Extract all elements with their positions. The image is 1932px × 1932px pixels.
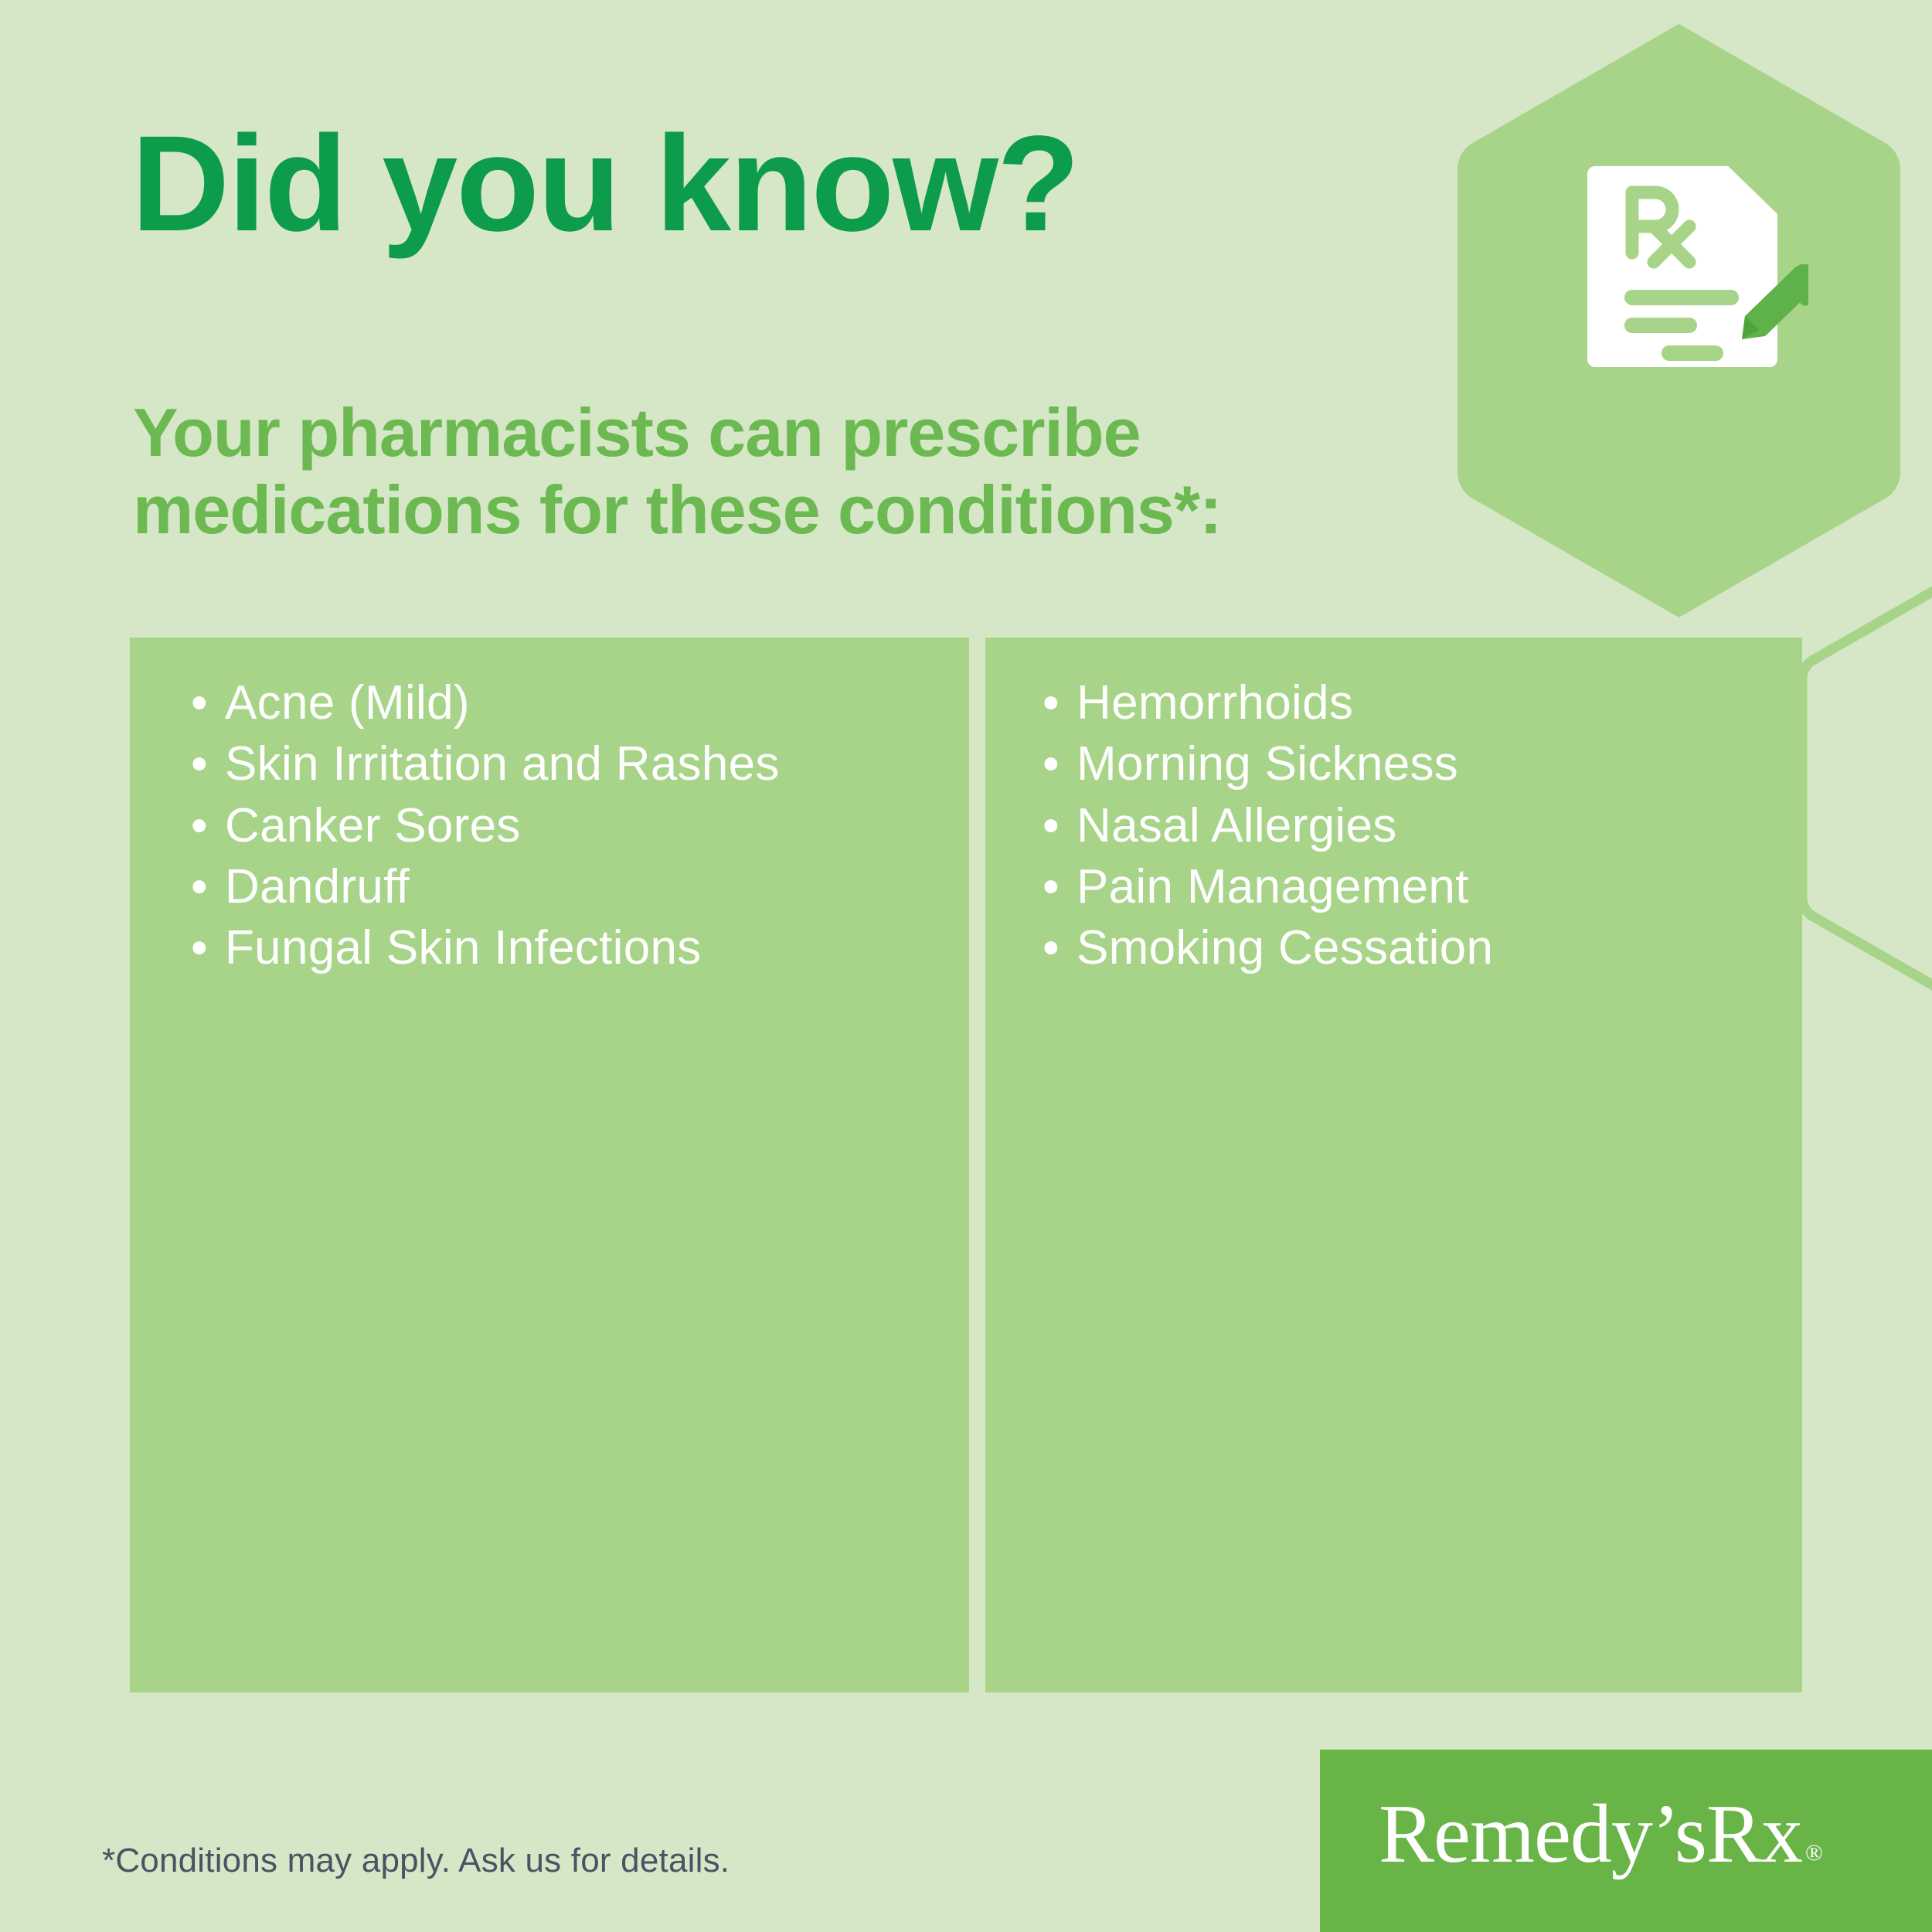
poster-canvas: Did you know? Your pharmacists can presc… <box>0 0 1932 1932</box>
list-item: • Pain Management <box>1039 856 1493 917</box>
list-item: • Morning Sickness <box>1039 733 1493 794</box>
rx-document-icon <box>1577 166 1808 390</box>
conditions-list-left: • Acne (Mild) • Skin Irritation and Rash… <box>188 672 780 979</box>
bullet-icon: • <box>1043 733 1060 794</box>
footnote-text: *Conditions may apply. Ask us for detail… <box>102 1842 730 1880</box>
bullet-icon: • <box>191 672 208 733</box>
list-item-label: Morning Sickness <box>1077 737 1458 791</box>
list-item-label: Nasal Allergies <box>1077 799 1397 852</box>
conditions-list-right: • Hemorrhoids • Morning Sickness • Nasal… <box>1039 672 1493 979</box>
list-item-label: Canker Sores <box>225 799 521 852</box>
brand-logo-text: Remedy’sRx <box>1379 1788 1802 1880</box>
list-item: • Hemorrhoids <box>1039 672 1493 733</box>
list-item-label: Acne (Mild) <box>225 676 470 730</box>
conditions-panel-left: • Acne (Mild) • Skin Irritation and Rash… <box>130 638 969 1692</box>
list-item: • Skin Irritation and Rashes <box>188 733 780 794</box>
subtitle-line-2: medications for these conditions*: <box>133 471 1221 549</box>
brand-logo: Remedy’sRx® <box>1379 1793 1819 1876</box>
list-item-label: Skin Irritation and Rashes <box>225 737 780 791</box>
list-item-label: Dandruff <box>225 860 410 913</box>
brand-band: Remedy’sRx® <box>1320 1750 1932 1932</box>
bullet-icon: • <box>1043 917 1060 978</box>
bullet-icon: • <box>191 733 208 794</box>
conditions-panel-right: • Hemorrhoids • Morning Sickness • Nasal… <box>985 638 1802 1692</box>
list-item: • Smoking Cessation <box>1039 917 1493 978</box>
page-subtitle: Your pharmacists can prescribe medicatio… <box>133 394 1221 549</box>
bullet-icon: • <box>191 917 208 978</box>
registered-trademark-icon: ® <box>1805 1840 1822 1866</box>
bullet-icon: • <box>191 856 208 917</box>
bullet-icon: • <box>1043 795 1060 856</box>
list-item-label: Hemorrhoids <box>1077 676 1353 730</box>
bullet-icon: • <box>1043 672 1060 733</box>
list-item: • Dandruff <box>188 856 780 917</box>
bullet-icon: • <box>191 795 208 856</box>
subtitle-line-1: Your pharmacists can prescribe <box>133 394 1221 471</box>
list-item: • Canker Sores <box>188 795 780 856</box>
hexagon-outline-icon <box>1791 568 1932 1009</box>
list-item-label: Smoking Cessation <box>1077 921 1493 975</box>
list-item-label: Pain Management <box>1077 860 1469 913</box>
list-item-label: Fungal Skin Infections <box>225 921 702 975</box>
page-title: Did you know? <box>131 116 1079 252</box>
bullet-icon: • <box>1043 856 1060 917</box>
list-item: • Acne (Mild) <box>188 672 780 733</box>
list-item: • Nasal Allergies <box>1039 795 1493 856</box>
list-item: • Fungal Skin Infections <box>188 917 780 978</box>
